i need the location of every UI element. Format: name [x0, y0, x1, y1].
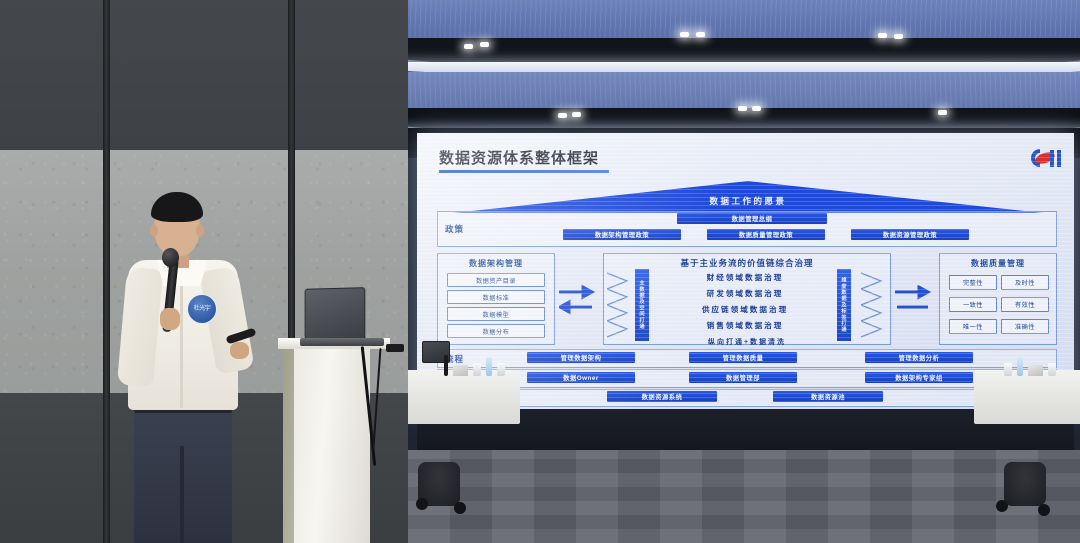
system-chip[interactable]: 数据资源池 [773, 391, 883, 402]
arch-item[interactable]: 数据分布 [447, 324, 545, 338]
quality-item[interactable]: 唯一性 [949, 319, 997, 334]
ear-left [150, 224, 158, 237]
water-bottle [486, 357, 492, 376]
organization-chip[interactable]: 数据架构专家组 [865, 372, 973, 383]
conference-table-right [974, 370, 1080, 424]
wall-seam-left [103, 0, 110, 543]
value-chain-row[interactable]: 销售领域数据治理 [653, 320, 837, 331]
hand-left [160, 308, 180, 330]
paper-cup [1048, 363, 1056, 376]
desk-items-right [1004, 352, 1056, 376]
ceiling-spotlight [894, 34, 903, 39]
process-chip[interactable]: 管理数据架构 [527, 352, 635, 363]
shirt-placket [180, 276, 183, 408]
policy-label: 政策 [445, 223, 464, 235]
slide-title: 数据资源体系整体框架 [439, 147, 599, 168]
dimension-data-vbar-label: 维度数据及标签打通 [841, 277, 848, 333]
presentation-screen-photo: 数据资源体系整体框架 数据工作的愿景 政策 数据管理总纲 数据架构管理政策 数据… [408, 0, 1080, 543]
wall-upper [0, 0, 408, 150]
ceiling-spotlight [878, 33, 887, 38]
value-chain-row[interactable]: 研发领域数据治理 [653, 288, 837, 299]
ceiling-spotlight [480, 42, 489, 47]
carpet-floor [408, 450, 1080, 543]
name-badge: 杜光宇 [187, 294, 217, 324]
value-chain-row[interactable]: 财经领域数据治理 [653, 272, 837, 283]
speaker-figure: 杜光宇 [126, 190, 306, 543]
desk-items-left [444, 352, 505, 376]
paper-cup [1004, 363, 1012, 376]
ceiling-spotlight [696, 32, 705, 37]
process-chip[interactable]: 管理数据质量 [689, 352, 797, 363]
name-badge-label: 杜光宇 [194, 306, 211, 312]
laptop-screen [305, 287, 366, 341]
policy-top-chip[interactable]: 数据管理总纲 [677, 213, 827, 224]
chair-wheel [1038, 504, 1050, 516]
dual-photo-composite: 杜光宇 数据资源体系整体框架 [0, 0, 1080, 543]
policy-chip[interactable]: 数据质量管理政策 [707, 229, 825, 240]
title-underline [439, 170, 609, 173]
quality-item[interactable]: 完整性 [949, 275, 997, 290]
value-chain-footer: 纵向打通+数据清洗 [603, 337, 891, 347]
microphone-head [162, 248, 179, 267]
chair-wheel [454, 502, 466, 514]
systems-band [437, 389, 1057, 407]
policy-chip[interactable]: 数据资源管理政策 [851, 229, 969, 240]
desk-microphone [444, 355, 448, 376]
paper-cup [497, 363, 505, 376]
data-architecture-title: 数据架构管理 [437, 258, 555, 269]
conference-speaker-photo: 杜光宇 [0, 0, 408, 543]
arch-item[interactable]: 数据标准 [447, 290, 545, 304]
data-quality-title: 数据质量管理 [939, 258, 1057, 269]
policy-chip[interactable]: 数据架构管理政策 [563, 229, 681, 240]
laptop-base [300, 338, 384, 346]
hair [151, 192, 203, 222]
quality-item[interactable]: 一致性 [949, 297, 997, 312]
leg-separation [180, 446, 184, 543]
organization-chip[interactable]: 数据管理部 [689, 372, 797, 383]
quality-item[interactable]: 及时性 [1001, 275, 1049, 290]
hand-right [230, 342, 249, 359]
office-chair-right [1004, 462, 1046, 506]
quality-item[interactable]: 有效性 [1001, 297, 1049, 312]
value-chain-row[interactable]: 供应链领域数据治理 [653, 304, 837, 315]
organization-chip[interactable]: 数据Owner [527, 372, 635, 383]
arrow-right-group-icon [895, 285, 935, 315]
ceiling-spotlight [938, 110, 947, 115]
system-chip[interactable]: 数据资源系统 [607, 391, 717, 402]
arch-item[interactable]: 数据模型 [447, 307, 545, 321]
power-adapter [386, 344, 404, 352]
ceiling-spotlight [752, 106, 761, 111]
chair-wheel [996, 500, 1008, 512]
ceiling-spotlight [464, 44, 473, 49]
ceiling-spotlight [558, 113, 567, 118]
dimension-data-vbar: 维度数据及标签打通 [837, 269, 851, 341]
water-bottle [1017, 357, 1023, 376]
company-logo-icon [1020, 146, 1062, 170]
process-chip[interactable]: 管理数据分析 [865, 352, 973, 363]
quality-item[interactable]: 准确性 [1001, 319, 1049, 334]
zigzag-left-icon [607, 271, 633, 341]
notepad [1028, 365, 1043, 376]
ear-right [196, 224, 204, 237]
vision-roof-label: 数据工作的愿景 [453, 195, 1043, 207]
master-data-vbar: 主数据及空间打通 [635, 269, 649, 341]
ceiling-spotlight [572, 112, 581, 117]
ceiling-spotlight [680, 32, 689, 37]
ceiling-spotlight [738, 106, 747, 111]
notepad [453, 365, 468, 376]
master-data-vbar-label: 主数据及空间打通 [639, 280, 646, 330]
paper-cup [473, 363, 481, 376]
chair-wheel [416, 498, 428, 510]
arch-item[interactable]: 数据资产目录 [447, 273, 545, 287]
zigzag-right-icon [861, 271, 887, 341]
conference-table-left [408, 370, 520, 424]
arrow-left-group-icon [559, 285, 599, 315]
value-chain-title: 基于主业务流的价值链综合治理 [603, 257, 891, 269]
